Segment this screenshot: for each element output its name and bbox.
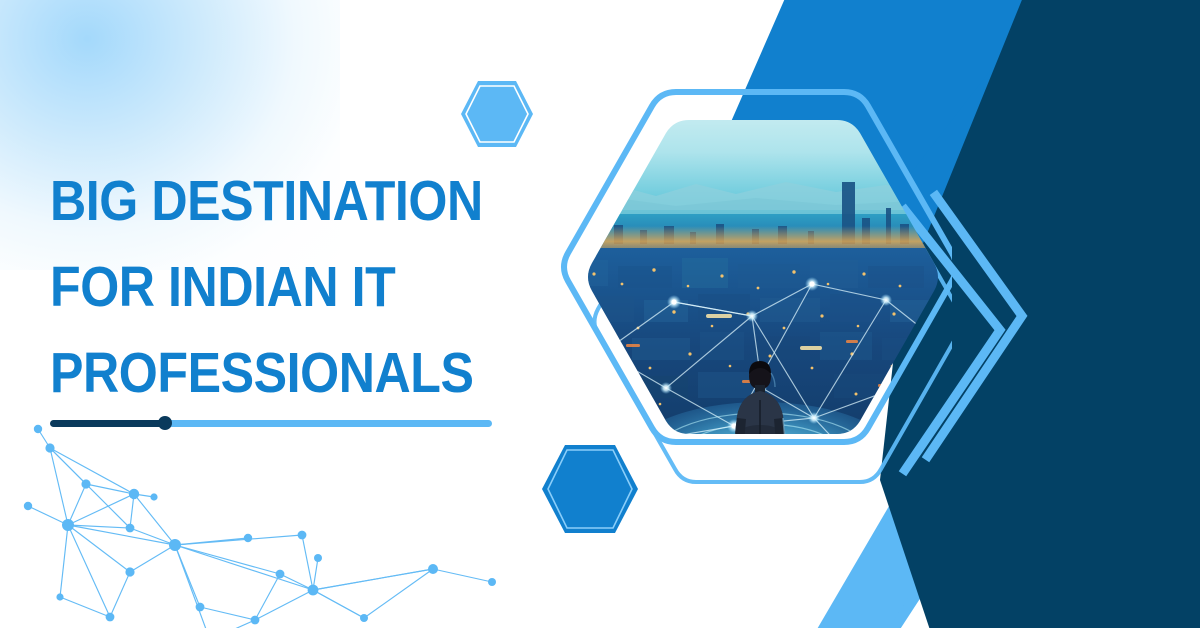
network-edges — [28, 429, 492, 628]
hexagon-small-decoration — [459, 79, 535, 149]
network-constellation-graphic — [0, 412, 560, 628]
headline-line-3: PROFESSIONALS — [50, 330, 508, 416]
headline-block: BIG DESTINATION FOR INDIAN IT PROFESSION… — [50, 158, 570, 416]
hexagon-large-fill — [542, 445, 638, 533]
hexagon-small-fill — [461, 81, 533, 147]
page-title: BIG DESTINATION FOR INDIAN IT PROFESSION… — [50, 158, 508, 416]
hexagon-large-decoration — [540, 443, 640, 535]
promo-banner: BIG DESTINATION FOR INDIAN IT PROFESSION… — [0, 0, 1200, 628]
headline-line-2: FOR INDIAN IT — [50, 244, 508, 330]
headline-line-1: BIG DESTINATION — [50, 158, 508, 244]
